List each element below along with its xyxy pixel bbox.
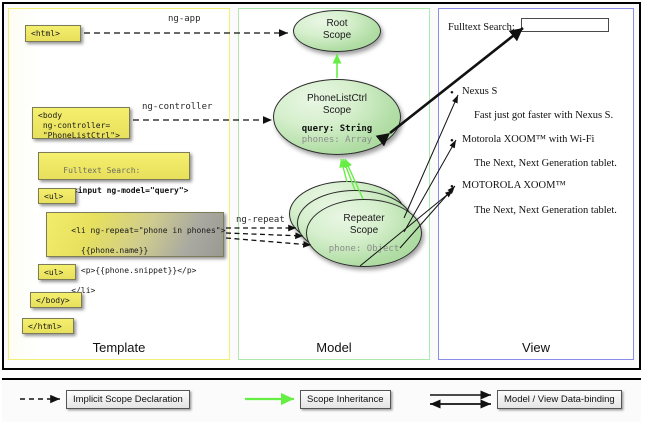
code-box-ul-open: <ul>: [38, 188, 76, 204]
bullet-icon: •: [450, 181, 454, 193]
repeater-scope-attr-phone: phone: Object: [307, 244, 421, 255]
root-scope-line2: Scope: [294, 30, 380, 42]
panel-model-label: Model: [239, 340, 429, 355]
label-ng-app: ng-app: [168, 14, 201, 24]
code-search-input: <input ng-model="query">: [63, 186, 188, 195]
code-box-fulltext-search: Fulltext Search: <input ng-model="query"…: [38, 152, 190, 180]
phone-name: Nexus S: [462, 86, 497, 97]
ellipse-repeater-scope: Repeater Scope phone: Object: [306, 199, 422, 267]
code-box-html-open: <html>: [25, 25, 81, 42]
bullet-icon: •: [450, 87, 454, 99]
search-input[interactable]: [521, 18, 609, 32]
ellipse-root-scope: Root Scope: [293, 10, 381, 52]
phone-name: MOTOROLA XOOM™: [462, 180, 566, 191]
label-ng-repeat: ng-repeat: [236, 215, 285, 225]
legend-label-scope-inheritance: Scope Inheritance: [300, 390, 391, 409]
code-li-line3: <p>{{phone.snippet}}</p>: [71, 266, 196, 275]
panel-template-label: Template: [9, 340, 229, 355]
ctrl-scope-line2: Scope: [274, 105, 400, 117]
ctrl-scope-line1: PhoneListCtrl: [274, 93, 400, 105]
list-item: • Motorola XOOM™ with Wi-Fi: [462, 134, 594, 145]
bullet-icon: •: [450, 135, 454, 147]
code-box-ul-close: <ul>: [38, 264, 76, 280]
legend-label-implicit-scope: Implicit Scope Declaration: [66, 390, 190, 409]
root-scope-line1: Root: [294, 18, 380, 30]
phone-snippet: Fast just got faster with Nexus S.: [474, 110, 613, 121]
code-box-li-repeat: <li ng-repeat="phone in phones"> {{phone…: [46, 212, 224, 257]
code-box-body-open: <body ng-controller= "PhoneListCtrl">: [32, 107, 130, 139]
repeater-scope-line1: Repeater: [307, 213, 421, 225]
phone-name: Motorola XOOM™ with Wi-Fi: [462, 134, 594, 145]
repeater-scope-line2: Scope: [307, 225, 421, 237]
ellipse-phonelistctrl-scope: PhoneListCtrl Scope query: String phones…: [273, 79, 401, 155]
code-box-html-close: </html>: [22, 318, 74, 334]
list-item: • MOTOROLA XOOM™: [462, 180, 566, 191]
legend-label-data-binding: Model / View Data-binding: [497, 390, 622, 409]
view-search-label: Fulltext Search:: [448, 22, 515, 33]
list-item: • Nexus S: [462, 86, 497, 97]
diagram-root: Template Model View <html> <body ng-cont…: [0, 0, 645, 425]
phone-snippet: The Next, Next Generation tablet.: [474, 205, 617, 216]
code-li-line2: {{phone.name}}: [71, 246, 148, 255]
phone-snippet: The Next, Next Generation tablet.: [474, 158, 617, 169]
panel-view-label: View: [439, 340, 633, 355]
ctrl-scope-attr-query: query: String: [274, 124, 400, 135]
code-search-label: Fulltext Search:: [63, 166, 140, 175]
code-box-body-close: </body>: [30, 292, 82, 308]
ctrl-scope-attr-phones: phones: Array: [274, 135, 400, 146]
code-li-line1: <li ng-repeat="phone in phones">: [71, 226, 225, 235]
label-ng-controller: ng-controller: [142, 102, 212, 112]
